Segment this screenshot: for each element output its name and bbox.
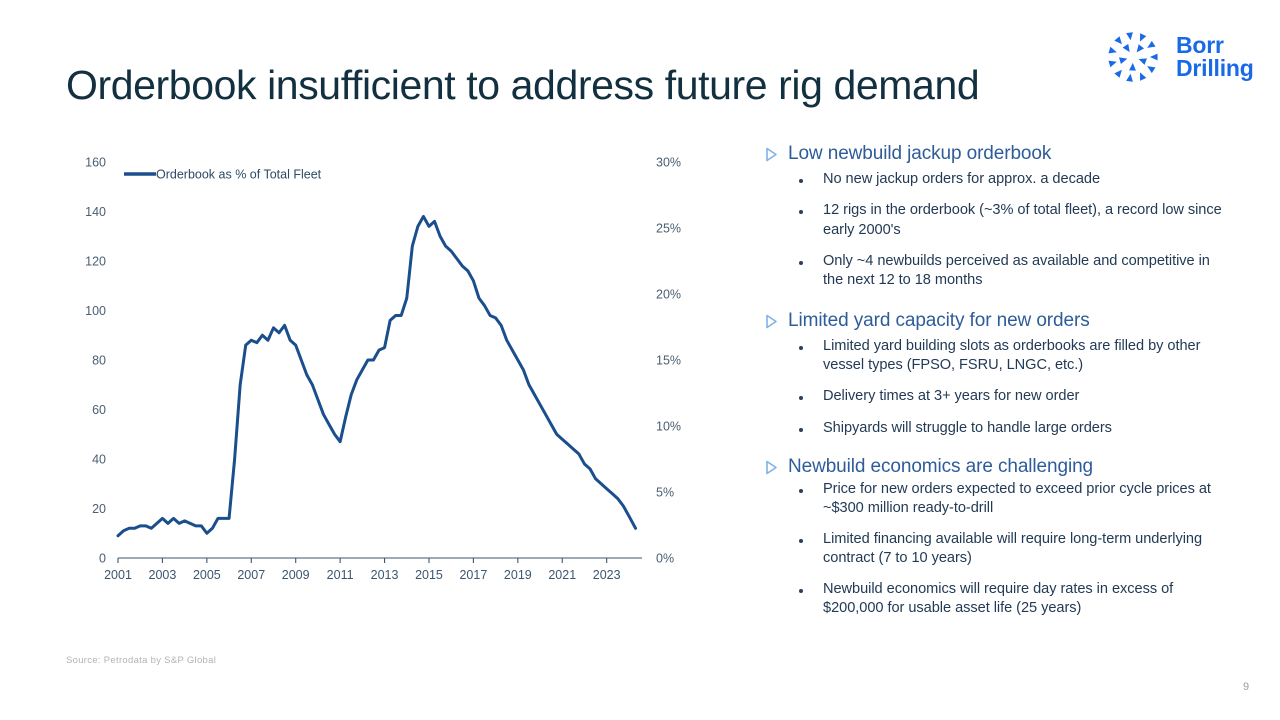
brand-name-line1: Borr [1176, 34, 1254, 57]
list-item: 12 rigs in the orderbook (~3% of total f… [765, 201, 1225, 240]
triangle-bullet-icon [765, 460, 778, 475]
list-item: Limited yard building slots as orderbook… [765, 337, 1225, 376]
x-axis-ticks: 2001200320052007200920112013201520172019… [104, 568, 621, 582]
bullet-text: Delivery times at 3+ years for new order [823, 387, 1079, 406]
svg-text:60: 60 [92, 403, 106, 417]
svg-text:0%: 0% [656, 552, 674, 566]
page-title: Orderbook insufficient to address future… [66, 62, 979, 109]
list-item: Delivery times at 3+ years for new order [765, 387, 1225, 406]
series-orderbook-pct [118, 216, 636, 535]
list-item: No new jackup orders for approx. a decad… [765, 170, 1225, 189]
section-title: Newbuild economics are challenging [788, 455, 1093, 479]
svg-text:10%: 10% [656, 420, 681, 434]
bullet-text: Price for new orders expected to exceed … [823, 480, 1225, 519]
bullet-dot-icon [799, 428, 803, 432]
section-header: Low newbuild jackup orderbook [765, 142, 1225, 166]
list-item: Shipyards will struggle to handle large … [765, 419, 1225, 438]
x-axis-line [118, 558, 642, 563]
bullet-list: No new jackup orders for approx. a decad… [765, 170, 1225, 291]
section-header: Newbuild economics are challenging [765, 455, 1225, 479]
section-limited-yard-capacity: Limited yard capacity for new orders Lim… [765, 309, 1225, 438]
svg-text:2001: 2001 [104, 568, 132, 582]
svg-text:2011: 2011 [327, 568, 354, 582]
section-header: Limited yard capacity for new orders [765, 309, 1225, 333]
bullet-text: Limited yard building slots as orderbook… [823, 337, 1225, 376]
bullet-dot-icon [799, 261, 803, 265]
svg-text:100: 100 [85, 304, 106, 318]
bullet-text: Newbuild economics will require day rate… [823, 580, 1225, 619]
svg-text:2013: 2013 [371, 568, 399, 582]
bullet-text: Shipyards will struggle to handle large … [823, 419, 1112, 438]
bullet-text: 12 rigs in the orderbook (~3% of total f… [823, 201, 1225, 240]
bullet-dot-icon [799, 179, 803, 183]
triangle-bullet-icon [765, 314, 778, 329]
borr-logo-mark [1098, 25, 1168, 89]
svg-text:5%: 5% [656, 486, 674, 500]
section-title: Limited yard capacity for new orders [788, 309, 1090, 333]
bullet-list: Limited yard building slots as orderbook… [765, 337, 1225, 439]
svg-text:2015: 2015 [415, 568, 443, 582]
list-item: Only ~4 newbuilds perceived as available… [765, 252, 1225, 291]
svg-text:160: 160 [85, 156, 106, 170]
svg-text:120: 120 [85, 255, 106, 269]
chart-legend: Orderbook as % of Total Fleet [124, 168, 322, 182]
svg-text:20%: 20% [656, 288, 681, 302]
orderbook-chart: 020406080100120140160 0%5%10%15%20%25%30… [60, 150, 720, 600]
svg-text:2021: 2021 [548, 568, 576, 582]
list-item: Price for new orders expected to exceed … [765, 480, 1225, 519]
svg-text:2003: 2003 [149, 568, 177, 582]
svg-text:140: 140 [85, 205, 106, 219]
bullet-text: No new jackup orders for approx. a decad… [823, 170, 1100, 189]
section-newbuild-economics: Newbuild economics are challenging Price… [765, 455, 1225, 618]
left-axis-ticks: 020406080100120140160 [85, 156, 106, 566]
bullet-dot-icon [799, 539, 803, 543]
svg-text:80: 80 [92, 354, 106, 368]
svg-text:2009: 2009 [282, 568, 310, 582]
svg-text:15%: 15% [656, 354, 681, 368]
bullet-text: Only ~4 newbuilds perceived as available… [823, 252, 1225, 291]
bullet-dot-icon [799, 210, 803, 214]
content-column: Low newbuild jackup orderbook No new jac… [765, 142, 1225, 629]
svg-text:2007: 2007 [237, 568, 265, 582]
svg-text:40: 40 [92, 453, 106, 467]
source-note: Source: Petrodata by S&P Global [66, 655, 216, 666]
svg-text:2017: 2017 [459, 568, 487, 582]
chart-svg: 020406080100120140160 0%5%10%15%20%25%30… [60, 150, 720, 600]
brand-wordmark: Borr Drilling [1176, 34, 1254, 81]
bullet-text: Limited financing available will require… [823, 530, 1225, 569]
list-item: Newbuild economics will require day rate… [765, 580, 1225, 619]
list-item: Limited financing available will require… [765, 530, 1225, 569]
logo-dots-svg [1098, 25, 1168, 89]
svg-text:2019: 2019 [504, 568, 532, 582]
bullet-dot-icon [799, 489, 803, 493]
brand-name-line2: Drilling [1176, 57, 1254, 80]
svg-text:0: 0 [99, 552, 106, 566]
bullet-dot-icon [799, 396, 803, 400]
brand-logo: Borr Drilling [1098, 22, 1270, 92]
svg-text:Orderbook as % of Total Fleet: Orderbook as % of Total Fleet [156, 168, 322, 182]
bullet-dot-icon [799, 346, 803, 350]
section-low-newbuild-jackup-orderbook: Low newbuild jackup orderbook No new jac… [765, 142, 1225, 291]
triangle-bullet-icon [765, 147, 778, 162]
section-title: Low newbuild jackup orderbook [788, 142, 1051, 166]
right-axis-ticks: 0%5%10%15%20%25%30% [656, 156, 681, 566]
svg-text:2023: 2023 [593, 568, 621, 582]
bullet-dot-icon [799, 589, 803, 593]
bullet-list: Price for new orders expected to exceed … [765, 480, 1225, 618]
svg-text:20: 20 [92, 502, 106, 516]
svg-text:2005: 2005 [193, 568, 221, 582]
svg-text:30%: 30% [656, 156, 681, 170]
svg-text:25%: 25% [656, 222, 681, 236]
page-number: 9 [1243, 681, 1249, 693]
